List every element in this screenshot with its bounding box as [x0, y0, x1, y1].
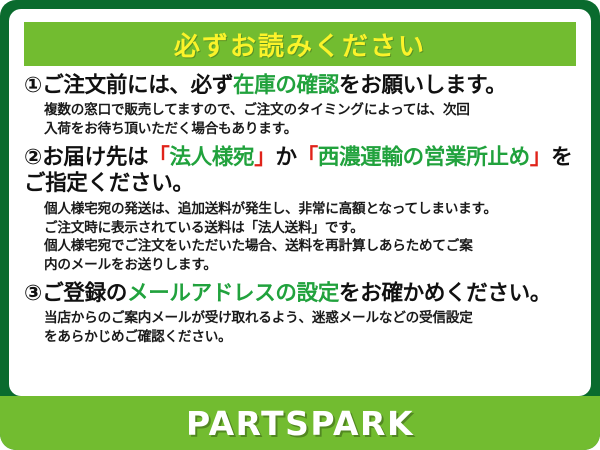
footer-brand-band: PARTSPARK [0, 396, 600, 450]
notice-item-1: ①ご注文前には、必ず在庫の確認をお願いします。 複数の窓口で販売してますので、ご… [24, 73, 576, 139]
item-2-heading-pre: お届け先は [42, 145, 148, 170]
item-2-body-line-3: 個人様宅宛でご注文をいただいた場合、送料を再計算しあらためてご案 [44, 237, 576, 256]
item-3-body-line-2: をあらかじめご確認ください。 [44, 328, 576, 347]
item-3-heading-post: をお確かめください。 [339, 281, 551, 306]
notice-title-bar: 必ずお読みください [24, 22, 576, 66]
notice-item-2: ②お届け先は「法人様宛」か「西濃運輸の営業所止め」をご指定ください。 個人様宅宛… [24, 145, 576, 275]
notice-item-list: ①ご注文前には、必ず在庫の確認をお願いします。 複数の窓口で販売してますので、ご… [23, 73, 577, 347]
item-2-bracket-open-2: 「 [297, 145, 318, 170]
item-1-heading-highlight: 在庫の確認 [233, 73, 339, 98]
notice-banner: 必ずお読みください ①ご注文前には、必ず在庫の確認をお願いします。 複数の窓口で… [0, 0, 600, 450]
item-2-bracket-close-1: 」 [254, 145, 275, 170]
brand-logo-partspark: PARTSPARK [186, 404, 414, 443]
notice-item-1-body: 複数の窓口で販売してますので、ご注文のタイミングによっては、次回 入荷をお待ち頂… [44, 101, 576, 139]
item-3-body-line-1: 当店からのご案内メールが受け取れるよう、迷惑メールなどの受信設定 [44, 309, 576, 328]
notice-item-3-body: 当店からのご案内メールが受け取れるよう、迷惑メールなどの受信設定 をあらかじめご… [44, 309, 576, 347]
page-title: 必ずお読みください [174, 26, 426, 63]
item-2-heading-mid: か [275, 145, 296, 170]
notice-item-2-body: 個人様宅宛の発送は、追加送料が発生し、非常に高額となってしまいます。 ご注文時に… [44, 200, 576, 275]
item-marker-3: ③ [24, 281, 42, 306]
item-1-heading-pre: ご注文前には、必ず [42, 73, 233, 98]
item-marker-1: ① [24, 73, 42, 98]
item-2-heading-highlight-2: 西濃運輸の営業所止め [318, 145, 530, 170]
item-2-body-line-1: 個人様宅宛の発送は、追加送料が発生し、非常に高額となってしまいます。 [44, 200, 576, 219]
item-1-heading-post: をお願いします。 [339, 73, 506, 98]
item-1-body-line-2: 入荷をお待ち頂いただく場合もあります。 [44, 120, 576, 139]
notice-item-2-heading: ②お届け先は「法人様宛」か「西濃運輸の営業所止め」をご指定ください。 [24, 145, 576, 198]
item-2-body-line-4: 内のメールをお送りします。 [44, 256, 576, 275]
item-2-heading-highlight-1: 法人様宛 [169, 145, 254, 170]
item-3-heading-highlight: メールアドレスの設定 [127, 281, 339, 306]
item-3-heading-pre: ご登録の [42, 281, 127, 306]
notice-item-1-heading: ①ご注文前には、必ず在庫の確認をお願いします。 [24, 73, 576, 99]
notice-card: 必ずお読みください ①ご注文前には、必ず在庫の確認をお願いします。 複数の窓口で… [9, 9, 591, 396]
notice-item-3: ③ご登録のメールアドレスの設定をお確かめください。 当店からのご案内メールが受け… [24, 281, 576, 347]
item-marker-2: ② [24, 145, 42, 170]
item-1-body-line-1: 複数の窓口で販売してますので、ご注文のタイミングによっては、次回 [44, 101, 576, 120]
item-2-bracket-open-1: 「 [148, 145, 169, 170]
item-2-bracket-close-2: 」 [530, 145, 551, 170]
notice-item-3-heading: ③ご登録のメールアドレスの設定をお確かめください。 [24, 281, 576, 307]
item-2-body-line-2: ご注文時に表示されている送料は「法人送料」です。 [44, 219, 576, 238]
